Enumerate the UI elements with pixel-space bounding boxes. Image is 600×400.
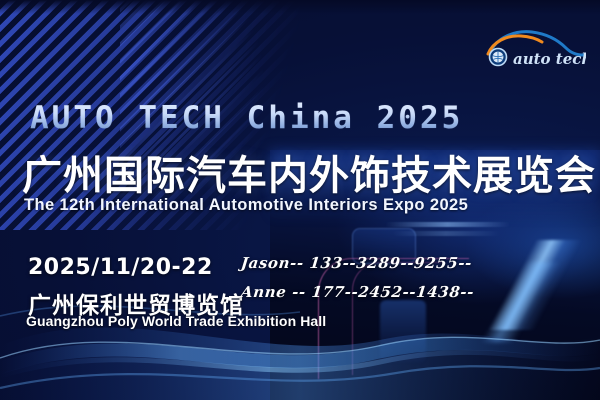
air-vent — [385, 222, 510, 227]
subtitle-english: The 12th International Automotive Interi… — [24, 196, 468, 215]
contact-list: Jason-- 133--3289--9255-- Anne -- 177--2… — [241, 254, 474, 312]
venue-english: Guangzhou Poly World Trade Exhibition Ha… — [26, 313, 326, 329]
air-vent-secondary — [392, 231, 500, 236]
contact-item: Anne -- 177--2452--1438-- — [240, 283, 475, 301]
auto-tech-logo: auto tech — [480, 26, 586, 72]
contact-item: Jason-- 133--3289--9255-- — [240, 254, 475, 272]
expo-promo-banner: auto tech AUTO TECH China 2025 广州国际汽车内外饰… — [0, 0, 600, 400]
event-date: 2025/11/20-22 — [28, 255, 213, 280]
title-chinese: 广州国际汽车内外饰技术展览会 — [22, 143, 596, 201]
title-english: AUTO TECH China 2025 — [30, 100, 463, 136]
top-edge-shade — [0, 0, 600, 14]
logo-text: auto tech — [513, 50, 586, 68]
